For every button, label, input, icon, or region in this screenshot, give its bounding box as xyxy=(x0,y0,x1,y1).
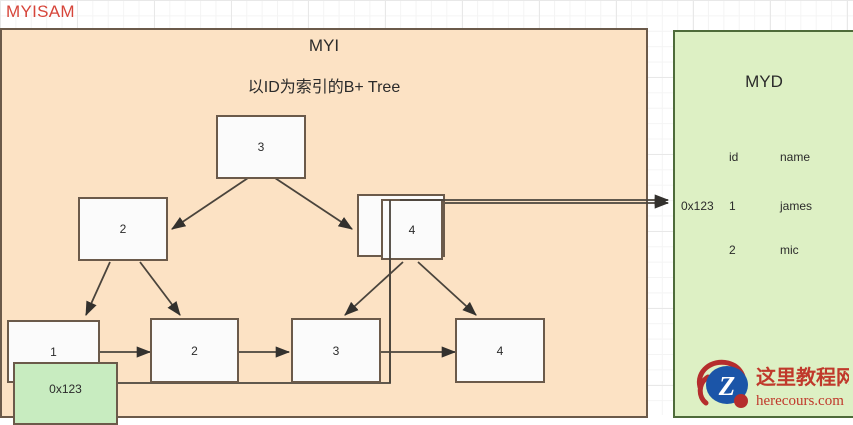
watermark-site-url: herecours.com xyxy=(756,393,844,409)
watermark-logo-icon: Z 这里教程网 herecours.com xyxy=(694,357,849,413)
tree-node-internal-right-overlay-label: 4 xyxy=(409,223,416,237)
watermark-logo-letter: Z xyxy=(718,371,736,401)
tree-leaf-4-label: 4 xyxy=(497,344,504,358)
myd-column-header-name: name xyxy=(780,150,810,164)
watermark-site-cn: 这里教程网 xyxy=(756,365,849,389)
tree-node-internal-left-label: 2 xyxy=(120,222,127,236)
tree-node-root-label: 3 xyxy=(258,140,265,154)
myi-panel-title: MYI xyxy=(2,36,646,56)
tree-pointer-box[interactable]: 0x123 xyxy=(13,362,118,425)
tree-leaf-3-label: 3 xyxy=(333,344,340,358)
tree-node-root[interactable]: 3 xyxy=(216,115,306,179)
myd-panel-title: MYD xyxy=(675,72,853,92)
tree-node-internal-left[interactable]: 2 xyxy=(78,197,168,261)
tree-leaf-3[interactable]: 3 xyxy=(291,318,381,383)
tree-leaf-2[interactable]: 2 xyxy=(150,318,239,383)
tree-pointer-label: 0x123 xyxy=(15,382,116,396)
tree-leaf-2-label: 2 xyxy=(191,344,198,358)
myd-row-0-id: 1 xyxy=(729,199,736,213)
myd-row-1-name: mic xyxy=(780,243,799,257)
watermark: Z 这里教程网 herecours.com xyxy=(694,357,849,413)
tree-leaf-4[interactable]: 4 xyxy=(455,318,545,383)
myd-row-1-id: 2 xyxy=(729,243,736,257)
myd-row-0-name: james xyxy=(780,199,812,213)
myisam-label: MYISAM xyxy=(6,2,75,22)
tree-leaf-1-label: 1 xyxy=(50,345,57,359)
myd-column-header-id: id xyxy=(729,150,738,164)
tree-node-internal-right-overlay[interactable]: 4 xyxy=(381,199,443,260)
myi-panel-subtitle: 以ID为索引的B+ Tree xyxy=(2,73,646,97)
myd-row-address: 0x123 xyxy=(681,199,714,213)
